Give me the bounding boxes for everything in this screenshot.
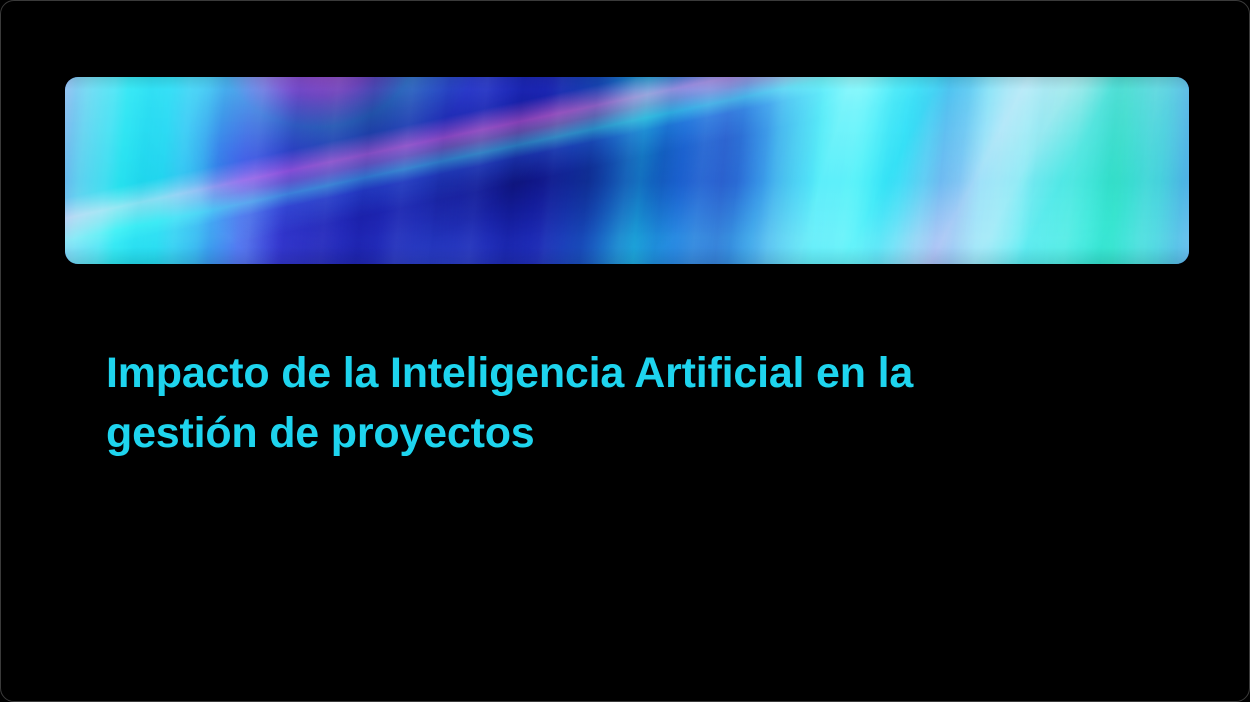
slide-canvas: Impacto de la Inteligencia Artificial en… <box>0 0 1250 702</box>
gradient-layer-vignette <box>65 77 1189 264</box>
hero-gradient-artwork <box>65 77 1189 264</box>
hero-banner-image <box>65 77 1189 264</box>
slide-title: Impacto de la Inteligencia Artificial en… <box>106 343 1096 463</box>
